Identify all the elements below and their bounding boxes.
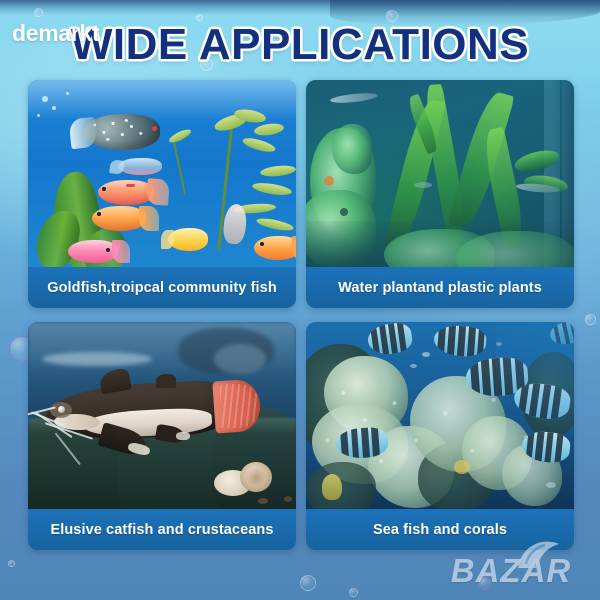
photo-water-plants (306, 80, 574, 267)
bubble-14 (585, 314, 596, 325)
application-card-sea-fish[interactable]: Sea fish and corals (306, 322, 574, 550)
card-caption-catfish: Elusive catfish and crustaceans (28, 509, 296, 550)
application-card-water-plants[interactable]: Water plantand plastic plants (306, 80, 574, 308)
application-card-catfish[interactable]: Elusive catfish and crustaceans (28, 322, 296, 550)
fish-tetra-orange-2 (92, 206, 146, 231)
bubble-13 (349, 588, 358, 597)
application-card-goldfish[interactable]: Goldfish,troipcal community fish (28, 80, 296, 308)
bubble-12 (300, 575, 316, 591)
applications-grid: Goldfish,troipcal community fish (28, 80, 574, 572)
card-caption-water-plants: Water plantand plastic plants (306, 267, 574, 308)
fish-tetra-yellow (168, 228, 208, 251)
demarkt-watermark: demarkt (12, 20, 99, 47)
fish-sergeant-major-2 (433, 324, 487, 358)
bazar-watermark-text: BAZAR (436, 552, 586, 590)
bubble-1 (34, 8, 43, 17)
fish-tetra-pink (68, 240, 118, 263)
photo-coral-reef (306, 322, 574, 509)
photo-catfish (28, 322, 296, 509)
fish-orange-right (254, 236, 296, 260)
bazar-watermark: BAZAR (436, 540, 586, 592)
card-caption-goldfish: Goldfish,troipcal community fish (28, 267, 296, 308)
photo-goldfish-aquarium (28, 80, 296, 267)
bubble-15 (8, 560, 15, 567)
